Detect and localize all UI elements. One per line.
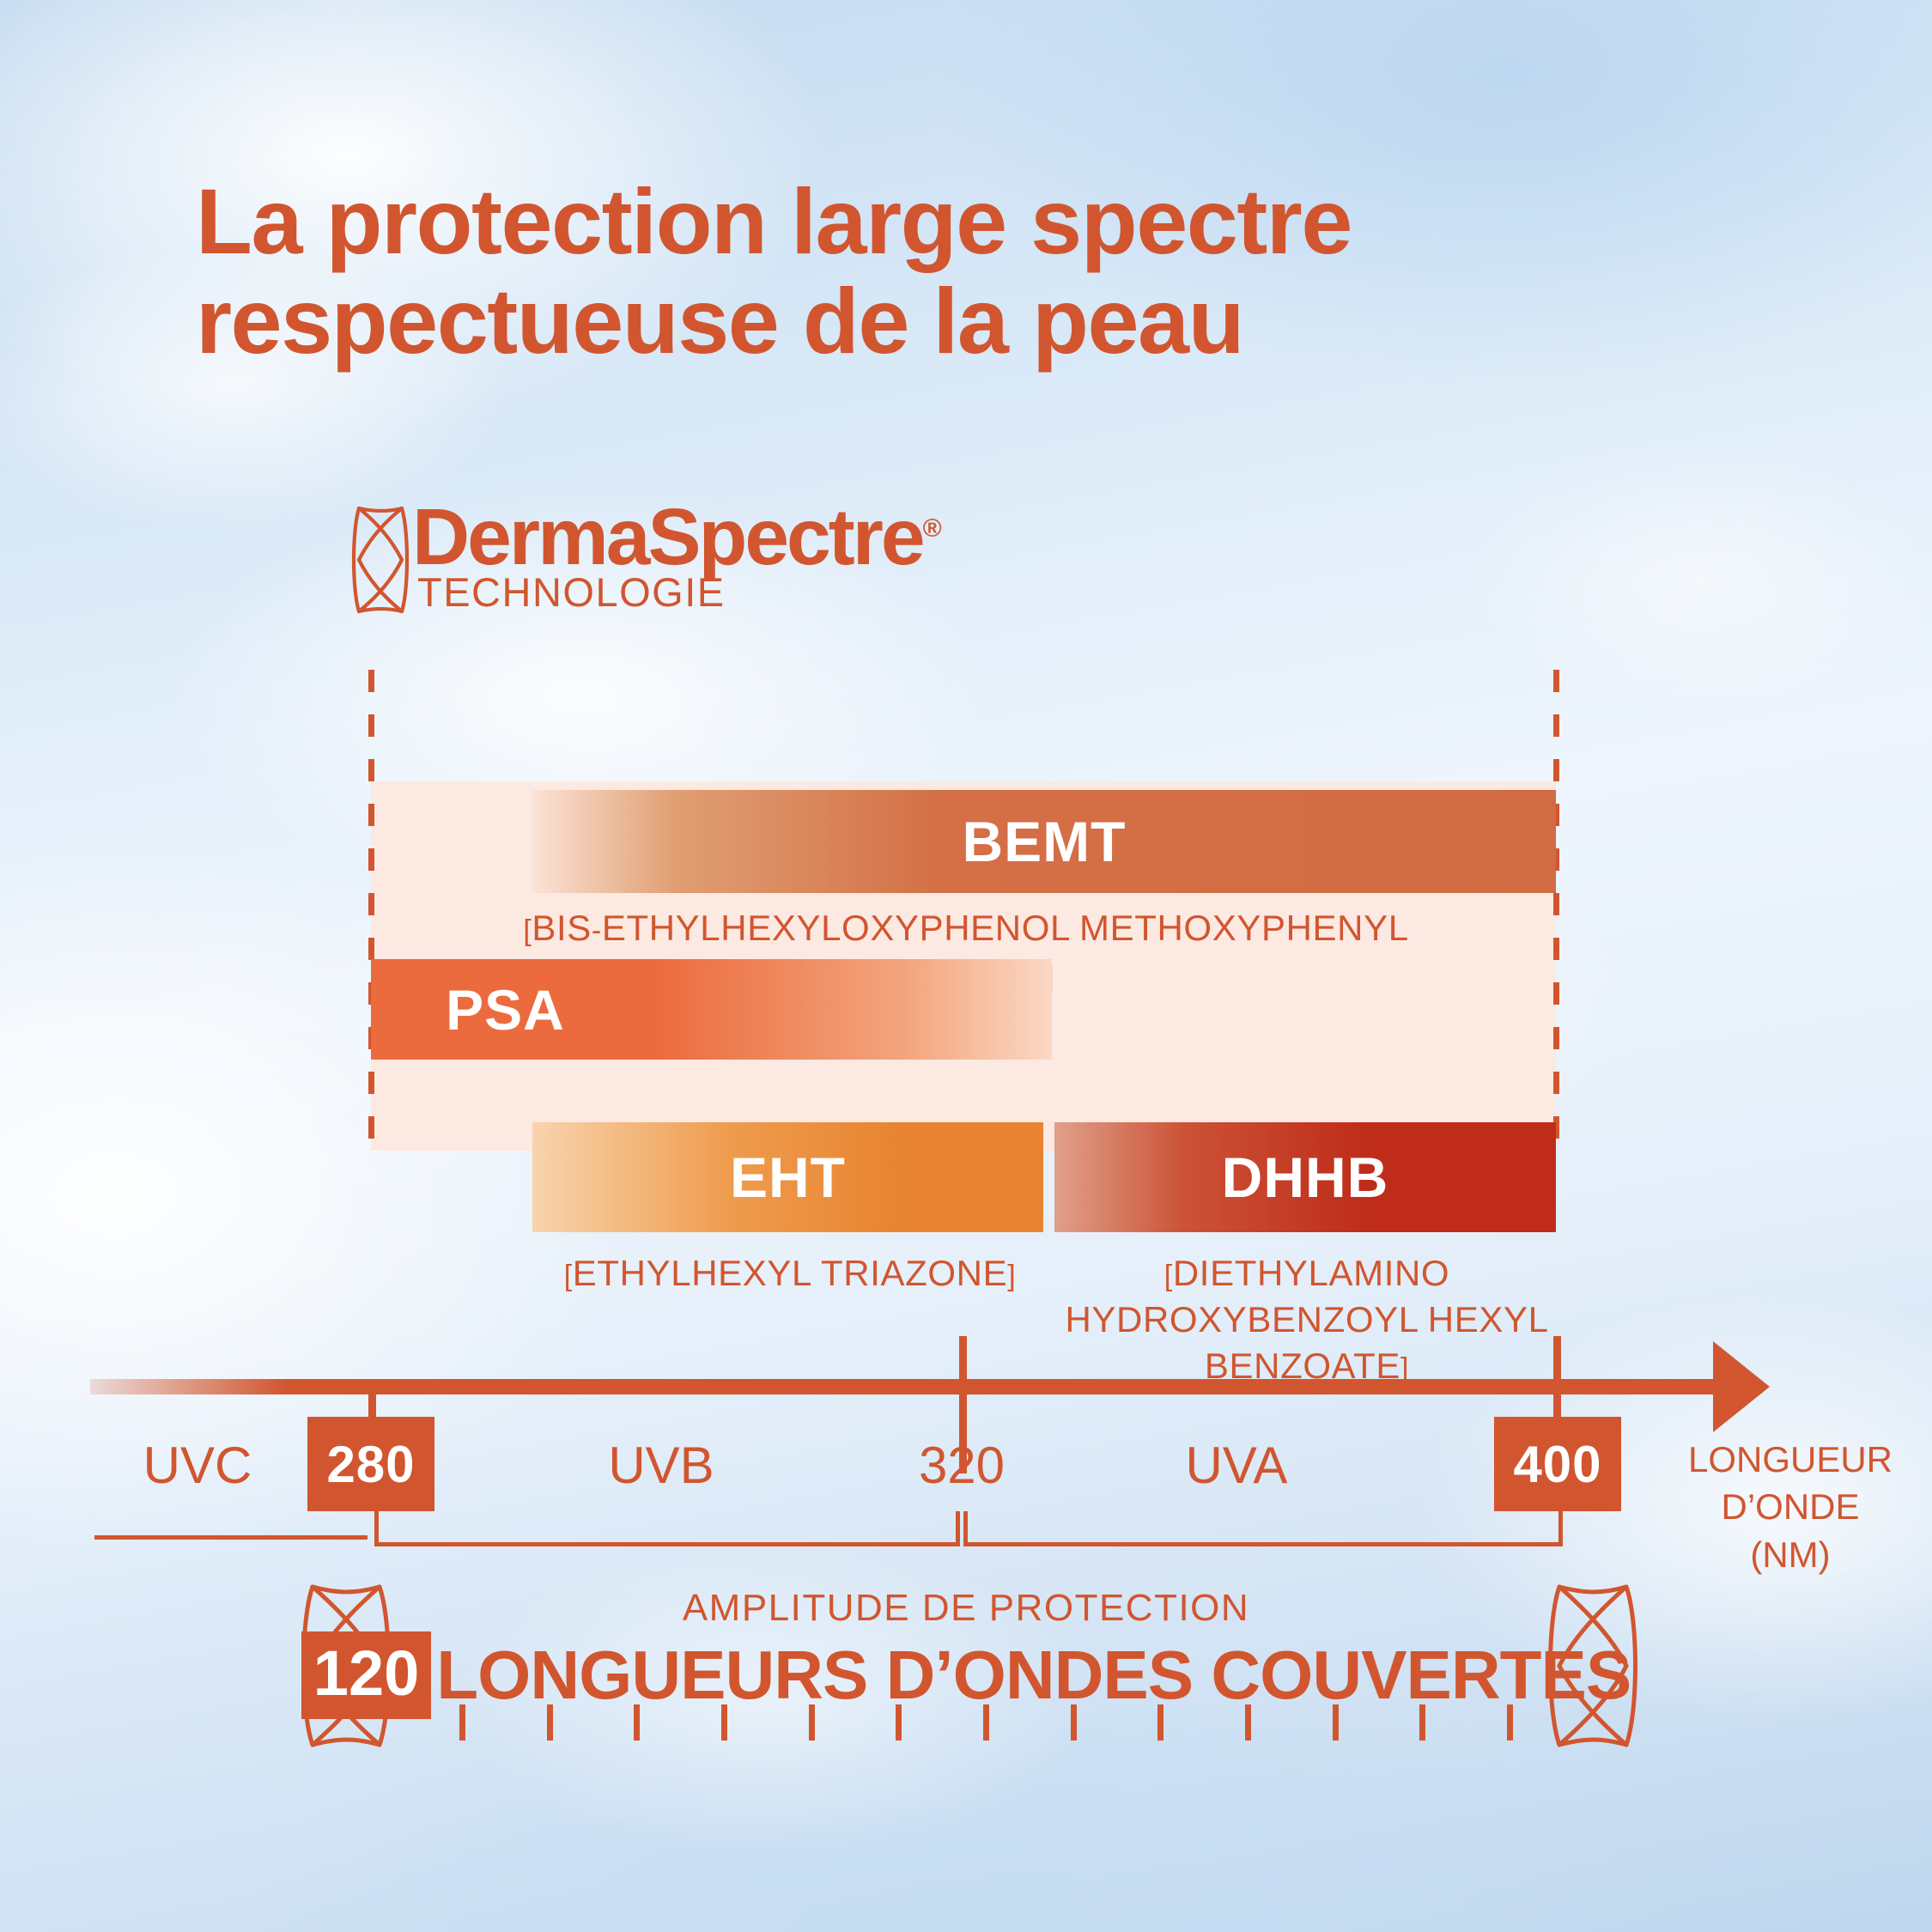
bar-label-eht: EHT xyxy=(730,1145,846,1210)
bar-label-psa: PSA xyxy=(446,977,565,1042)
wavelength-line-2: D’ONDE xyxy=(1666,1483,1915,1530)
wavelength-axis-line xyxy=(90,1379,1726,1394)
wavelength-tick xyxy=(721,1704,727,1741)
wavelength-tick xyxy=(896,1704,902,1741)
wavelength-line-1: LONGUEUR xyxy=(1666,1436,1915,1483)
wavelength-tick xyxy=(983,1704,989,1741)
bar-label-bemt: BEMT xyxy=(963,809,1127,874)
coverage-claim: 120 LONGUEURS D’ONDES COUVERTES xyxy=(0,1631,1932,1719)
bar-dhhb: DHHB xyxy=(1054,1122,1556,1232)
wavelength-tick xyxy=(634,1704,640,1741)
bracket-uva xyxy=(963,1511,1563,1546)
registered-mark: ® xyxy=(923,514,939,543)
brand-logo: DermaSpectre® TECHNOLOGIE xyxy=(350,498,1003,627)
bar-psa: PSA xyxy=(371,959,1052,1060)
wavelength-tick xyxy=(459,1704,465,1741)
axis-label-uvb: UVB xyxy=(550,1436,773,1495)
infographic-stage: La protection large spectre respectueuse… xyxy=(0,0,1932,1932)
boundary-line-280 xyxy=(368,670,374,1155)
boundary-line-400 xyxy=(1553,670,1559,1155)
wavelength-tick xyxy=(547,1704,553,1741)
axis-value-320: 320 xyxy=(859,1436,1065,1495)
wavelength-tick xyxy=(1245,1704,1251,1741)
bar-caption-dhhb: [DIETHYLAMINO HYDROXYBENZOYL HEXYL BENZO… xyxy=(1006,1250,1607,1388)
coverage-claim-text: LONGUEURS D’ONDES COUVERTES xyxy=(436,1641,1631,1710)
wavelength-tick xyxy=(1333,1704,1339,1741)
axis-title-wavelength: LONGUEUR D’ONDE (NM) xyxy=(1666,1436,1915,1578)
wavelength-tick xyxy=(809,1704,815,1741)
axis-value-280: 280 xyxy=(307,1417,434,1511)
axis-label-uva: UVA xyxy=(1125,1436,1348,1495)
bracket-uvc xyxy=(94,1535,368,1540)
wavelength-tick xyxy=(1071,1704,1077,1741)
bracket-uvb xyxy=(374,1511,960,1546)
amplitude-label: AMPLITUDE DE PROTECTION xyxy=(0,1587,1932,1630)
bar-caption-eht: [ETHYLHEXYL TRIAZONE] xyxy=(532,1250,1048,1297)
bar-label-dhhb: DHHB xyxy=(1222,1145,1389,1210)
coverage-count-badge: 120 xyxy=(301,1631,431,1719)
axis-arrow-icon xyxy=(1713,1341,1770,1432)
wavelength-tick xyxy=(1507,1704,1513,1741)
spectrum-chart: BEMT [BIS-ETHYLHEXYLOXYPHENOL METHOXYPHE… xyxy=(0,670,1932,1151)
wavelength-tick xyxy=(1157,1704,1163,1741)
wavelength-tick xyxy=(1419,1704,1425,1741)
bar-eht: EHT xyxy=(532,1122,1043,1232)
page-title: La protection large spectre respectueuse… xyxy=(196,172,1604,370)
brand-tagline: TECHNOLOGIE xyxy=(417,568,726,616)
woven-braid-icon xyxy=(350,505,410,615)
axis-value-400: 400 xyxy=(1494,1417,1621,1511)
wavelength-line-3: (NM) xyxy=(1666,1531,1915,1578)
bar-bemt: BEMT xyxy=(532,790,1556,893)
axis-label-uvc: UVC xyxy=(94,1436,301,1495)
